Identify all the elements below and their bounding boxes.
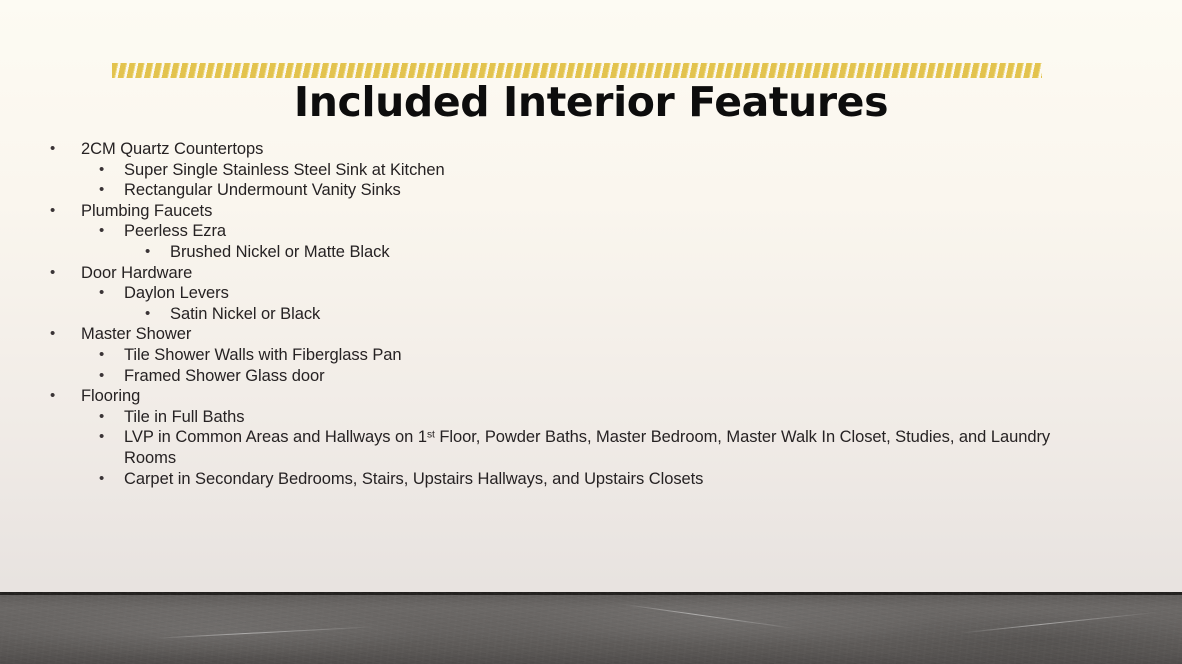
list-item: •Master Shower: [0, 324, 1182, 345]
list-item: •Daylon Levers: [0, 283, 1182, 304]
bullet-icon: •: [99, 283, 104, 304]
list-item: •Tile Shower Walls with Fiberglass Pan: [0, 345, 1182, 366]
list-item-label: Framed Shower Glass door: [124, 366, 1182, 387]
dashed-gold-rule: [112, 63, 1042, 78]
list-item: •Flooring: [0, 386, 1182, 407]
list-item: •Framed Shower Glass door: [0, 366, 1182, 387]
bullet-icon: •: [50, 139, 55, 160]
bullet-icon: •: [99, 469, 104, 490]
list-item-label: Carpet in Secondary Bedrooms, Stairs, Up…: [124, 469, 1182, 490]
bullet-icon: •: [99, 180, 104, 201]
ordinal-suffix: st: [427, 430, 435, 441]
bullet-icon: •: [50, 324, 55, 345]
list-item-label: LVP in Common Areas and Hallways on 1st …: [124, 427, 1096, 468]
feature-bullet-list: •2CM Quartz Countertops•Super Single Sta…: [0, 139, 1182, 489]
list-item-label: 2CM Quartz Countertops: [81, 139, 1182, 160]
list-item-label: Satin Nickel or Black: [170, 304, 1182, 325]
bullet-icon: •: [99, 221, 104, 242]
stone-countertop-photo: [0, 592, 1182, 664]
list-item-label: Super Single Stainless Steel Sink at Kit…: [124, 160, 1182, 181]
list-item-label: Door Hardware: [81, 263, 1182, 284]
list-item-label: Daylon Levers: [124, 283, 1182, 304]
list-item: •Super Single Stainless Steel Sink at Ki…: [0, 160, 1182, 181]
list-item-label: Tile Shower Walls with Fiberglass Pan: [124, 345, 1182, 366]
bullet-icon: •: [145, 304, 150, 325]
bullet-icon: •: [99, 366, 104, 387]
list-item-label: Tile in Full Baths: [124, 407, 1182, 428]
list-item: •Door Hardware: [0, 263, 1182, 284]
bullet-icon: •: [50, 263, 55, 284]
list-item-label: Rectangular Undermount Vanity Sinks: [124, 180, 1182, 201]
list-item-label: Peerless Ezra: [124, 221, 1182, 242]
bullet-icon: •: [50, 386, 55, 407]
list-item: •Satin Nickel or Black: [0, 304, 1182, 325]
bullet-icon: •: [50, 201, 55, 222]
list-item: •Carpet in Secondary Bedrooms, Stairs, U…: [0, 469, 1182, 490]
list-item: •Tile in Full Baths: [0, 407, 1182, 428]
list-item: •Rectangular Undermount Vanity Sinks: [0, 180, 1182, 201]
bullet-icon: •: [99, 427, 104, 448]
list-item: •Peerless Ezra: [0, 221, 1182, 242]
page-title: Included Interior Features: [0, 80, 1182, 126]
list-item: •2CM Quartz Countertops: [0, 139, 1182, 160]
list-item-label: Plumbing Faucets: [81, 201, 1182, 222]
list-item: •LVP in Common Areas and Hallways on 1st…: [0, 427, 1096, 468]
bullet-icon: •: [145, 242, 150, 263]
list-item-label: Brushed Nickel or Matte Black: [170, 242, 1182, 263]
bullet-icon: •: [99, 160, 104, 181]
bullet-icon: •: [99, 345, 104, 366]
list-item: •Brushed Nickel or Matte Black: [0, 242, 1182, 263]
list-item-label: Master Shower: [81, 324, 1182, 345]
slide: Included Interior Features •2CM Quartz C…: [0, 0, 1182, 664]
list-item: •Plumbing Faucets: [0, 201, 1182, 222]
list-item-label: Flooring: [81, 386, 1182, 407]
bullet-icon: •: [99, 407, 104, 428]
